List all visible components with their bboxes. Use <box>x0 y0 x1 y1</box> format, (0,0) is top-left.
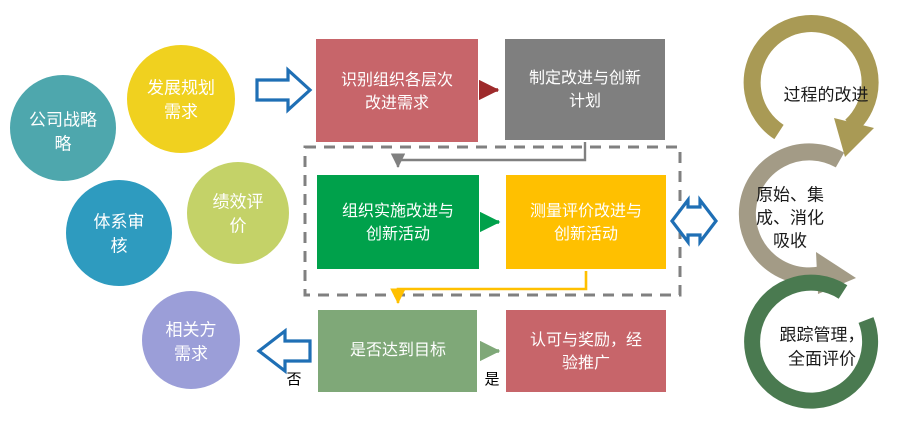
ring-process-improvement[interactable]: 过程的改进 <box>752 24 874 157</box>
box-identify-improvement-needs-label-1: 改进需求 <box>365 94 429 112</box>
box-goal-reached-label-0: 是否达到目标 <box>350 341 446 359</box>
ring-original-integration-absorption-label-0: 原始、集 <box>756 185 824 204</box>
circle-performance-evaluation-label-1: 价 <box>230 216 247 235</box>
circle-stakeholder-need-label-0: 相关方 <box>166 320 217 339</box>
diagram-canvas: 公司战略 略 发展规划 需求 绩效评 价 体系审 核 相关方 需 <box>0 0 905 432</box>
box-recognition-reward-shape <box>506 310 666 392</box>
box-identify-improvement-needs[interactable]: 识别组织各层次 改进需求 <box>316 39 478 142</box>
circle-development-plan-need-shape <box>127 45 235 153</box>
arrow-measure-to-goal-icon <box>398 271 586 303</box>
circle-company-strategy-label-0: 公司战略 <box>29 110 97 129</box>
box-recognition-reward-label-1: 验推广 <box>562 354 610 372</box>
box-make-improvement-plan[interactable]: 制定改进与创新 计划 <box>505 39 665 140</box>
branch-label-yes: 是 <box>484 371 499 388</box>
box-make-improvement-plan-label-0: 制定改进与创新 <box>529 69 641 87</box>
cycle-rings-group: 过程的改进 原始、集 成、消化 吸收 跟踪管理， 全面评价 <box>747 24 874 401</box>
process-boxes-group: 识别组织各层次 改进需求 制定改进与创新 计划 组织实施改进与 创新活动 测量评… <box>316 39 666 392</box>
box-goal-reached[interactable]: 是否达到目标 <box>318 310 477 392</box>
ring-process-improvement-label-0: 过程的改进 <box>784 85 869 104</box>
input-circles-group: 公司战略 略 发展规划 需求 绩效评 价 体系审 核 相关方 需 <box>10 45 289 389</box>
circle-system-audit-label-1: 核 <box>111 236 128 255</box>
ring-process-improvement-arc <box>752 24 870 132</box>
circle-performance-evaluation-shape <box>187 162 289 264</box>
ring-tracking-management-evaluation[interactable]: 跟踪管理， 全面评价 <box>752 283 870 401</box>
box-measure-evaluate-improvement-label-1: 创新活动 <box>554 225 618 243</box>
circle-development-plan-need[interactable]: 发展规划 需求 <box>127 45 235 153</box>
box-measure-evaluate-improvement-shape <box>506 175 666 269</box>
ring-original-integration-absorption-label-1: 成、消化 <box>756 208 824 227</box>
box-implement-improvement-label-1: 创新活动 <box>366 225 430 243</box>
circle-performance-evaluation[interactable]: 绩效评 价 <box>187 162 289 264</box>
circle-stakeholder-need-label-1: 需求 <box>174 344 208 363</box>
circle-development-plan-need-label-1: 需求 <box>164 102 198 121</box>
ring-original-integration-absorption[interactable]: 原始、集 成、消化 吸收 <box>747 152 856 294</box>
box-recognition-reward-label-0: 认可与奖励，经 <box>530 331 642 349</box>
ring-original-integration-absorption-label-2: 吸收 <box>773 231 807 250</box>
circle-performance-evaluation-label-0: 绩效评 <box>213 192 264 211</box>
circle-stakeholder-need[interactable]: 相关方 需求 <box>142 291 240 389</box>
arrow-inputs-to-identify-icon <box>257 70 310 110</box>
box-implement-improvement-shape <box>317 175 479 269</box>
circle-company-strategy[interactable]: 公司战略 略 <box>10 75 116 181</box>
circle-company-strategy-label-1: 略 <box>55 134 72 153</box>
ring-tracking-management-evaluation-label-0: 跟踪管理， <box>780 325 865 344</box>
box-identify-improvement-needs-shape <box>316 39 478 142</box>
box-implement-improvement-label-0: 组织实施改进与 <box>342 202 454 220</box>
box-make-improvement-plan-label-1: 计划 <box>569 92 601 110</box>
ring-tracking-management-evaluation-label-1: 全面评价 <box>788 349 856 368</box>
box-recognition-reward[interactable]: 认可与奖励，经 验推广 <box>506 310 666 392</box>
box-make-improvement-plan-shape <box>505 39 665 140</box>
box-identify-improvement-needs-label-0: 识别组织各层次 <box>341 71 453 89</box>
box-measure-evaluate-improvement[interactable]: 测量评价改进与 创新活动 <box>506 175 666 269</box>
circle-system-audit-label-0: 体系审 <box>94 212 145 231</box>
circle-system-audit-shape <box>66 180 172 286</box>
branch-label-no: 否 <box>286 371 301 388</box>
circle-system-audit[interactable]: 体系审 核 <box>66 180 172 286</box>
box-implement-improvement[interactable]: 组织实施改进与 创新活动 <box>317 175 479 269</box>
diagram-svg: 公司战略 略 发展规划 需求 绩效评 价 体系审 核 相关方 需 <box>0 0 905 432</box>
circle-development-plan-need-label-0: 发展规划 <box>147 78 215 97</box>
box-measure-evaluate-improvement-label-0: 测量评价改进与 <box>530 202 642 220</box>
arrow-goal-no-to-stakeholder-icon <box>259 331 310 371</box>
circle-stakeholder-need-shape <box>142 291 240 389</box>
